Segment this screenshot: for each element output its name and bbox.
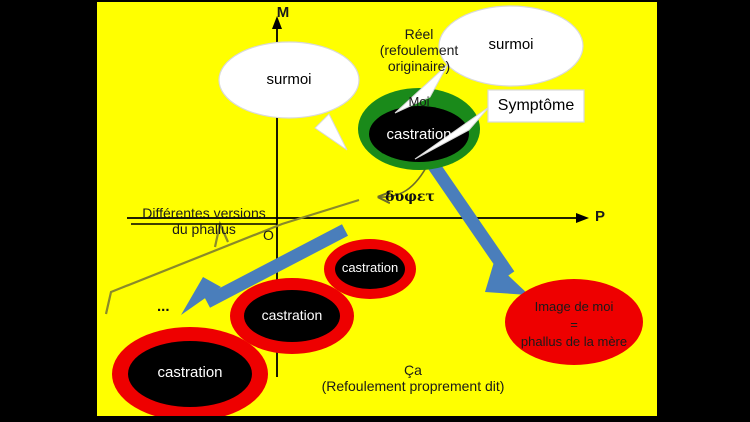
castration-label-small: castration: [342, 261, 398, 276]
label-reel: Réel (refoulement originaire): [380, 26, 459, 74]
diagram-canvas: M P O Réel (refoulement originaire) surm…: [97, 2, 657, 416]
label-reel-line1: Réel: [380, 26, 459, 42]
callout-surmoi-left-text: surmoi: [266, 71, 311, 88]
image-de-moi-line3: phallus de la mère: [521, 333, 627, 351]
label-ca: Ça (Refoulement proprement dit): [322, 362, 505, 394]
axis-label-p: P: [595, 208, 605, 225]
callout-surmoi-right-text: surmoi: [488, 36, 533, 53]
axis-label-m: M: [277, 4, 290, 21]
label-versions-phallus: Différentes versions du phallus: [142, 205, 265, 237]
label-ca-line2: (Refoulement proprement dit): [322, 378, 505, 394]
axis-horizontal-arrowhead: [576, 213, 589, 223]
label-versions-line2: du phallus: [142, 221, 265, 237]
label-ellipsis: ...: [157, 298, 170, 315]
screenshot-root: M P O Réel (refoulement originaire) surm…: [0, 0, 750, 422]
image-de-moi-line2: =: [521, 316, 627, 334]
label-reel-line3: originaire): [380, 58, 459, 74]
label-reel-line2: (refoulement: [380, 42, 459, 58]
formula-label: δυφετ: [385, 189, 435, 205]
blue-arrow-to-image: [423, 150, 529, 295]
image-de-moi-text: Image de moi = phallus de la mère: [521, 298, 627, 351]
castration-label-medium: castration: [262, 307, 323, 323]
callout-symptome-text: Symptôme: [498, 97, 574, 115]
moi-outer-label: Moi: [409, 95, 430, 110]
castration-label-large: castration: [157, 364, 222, 381]
moi-inner-label: castration: [386, 126, 451, 143]
label-versions-line1: Différentes versions: [142, 205, 265, 221]
label-ca-line1: Ça: [322, 362, 505, 378]
callout-surmoi-left: [219, 42, 359, 150]
image-de-moi-line1: Image de moi: [521, 298, 627, 316]
